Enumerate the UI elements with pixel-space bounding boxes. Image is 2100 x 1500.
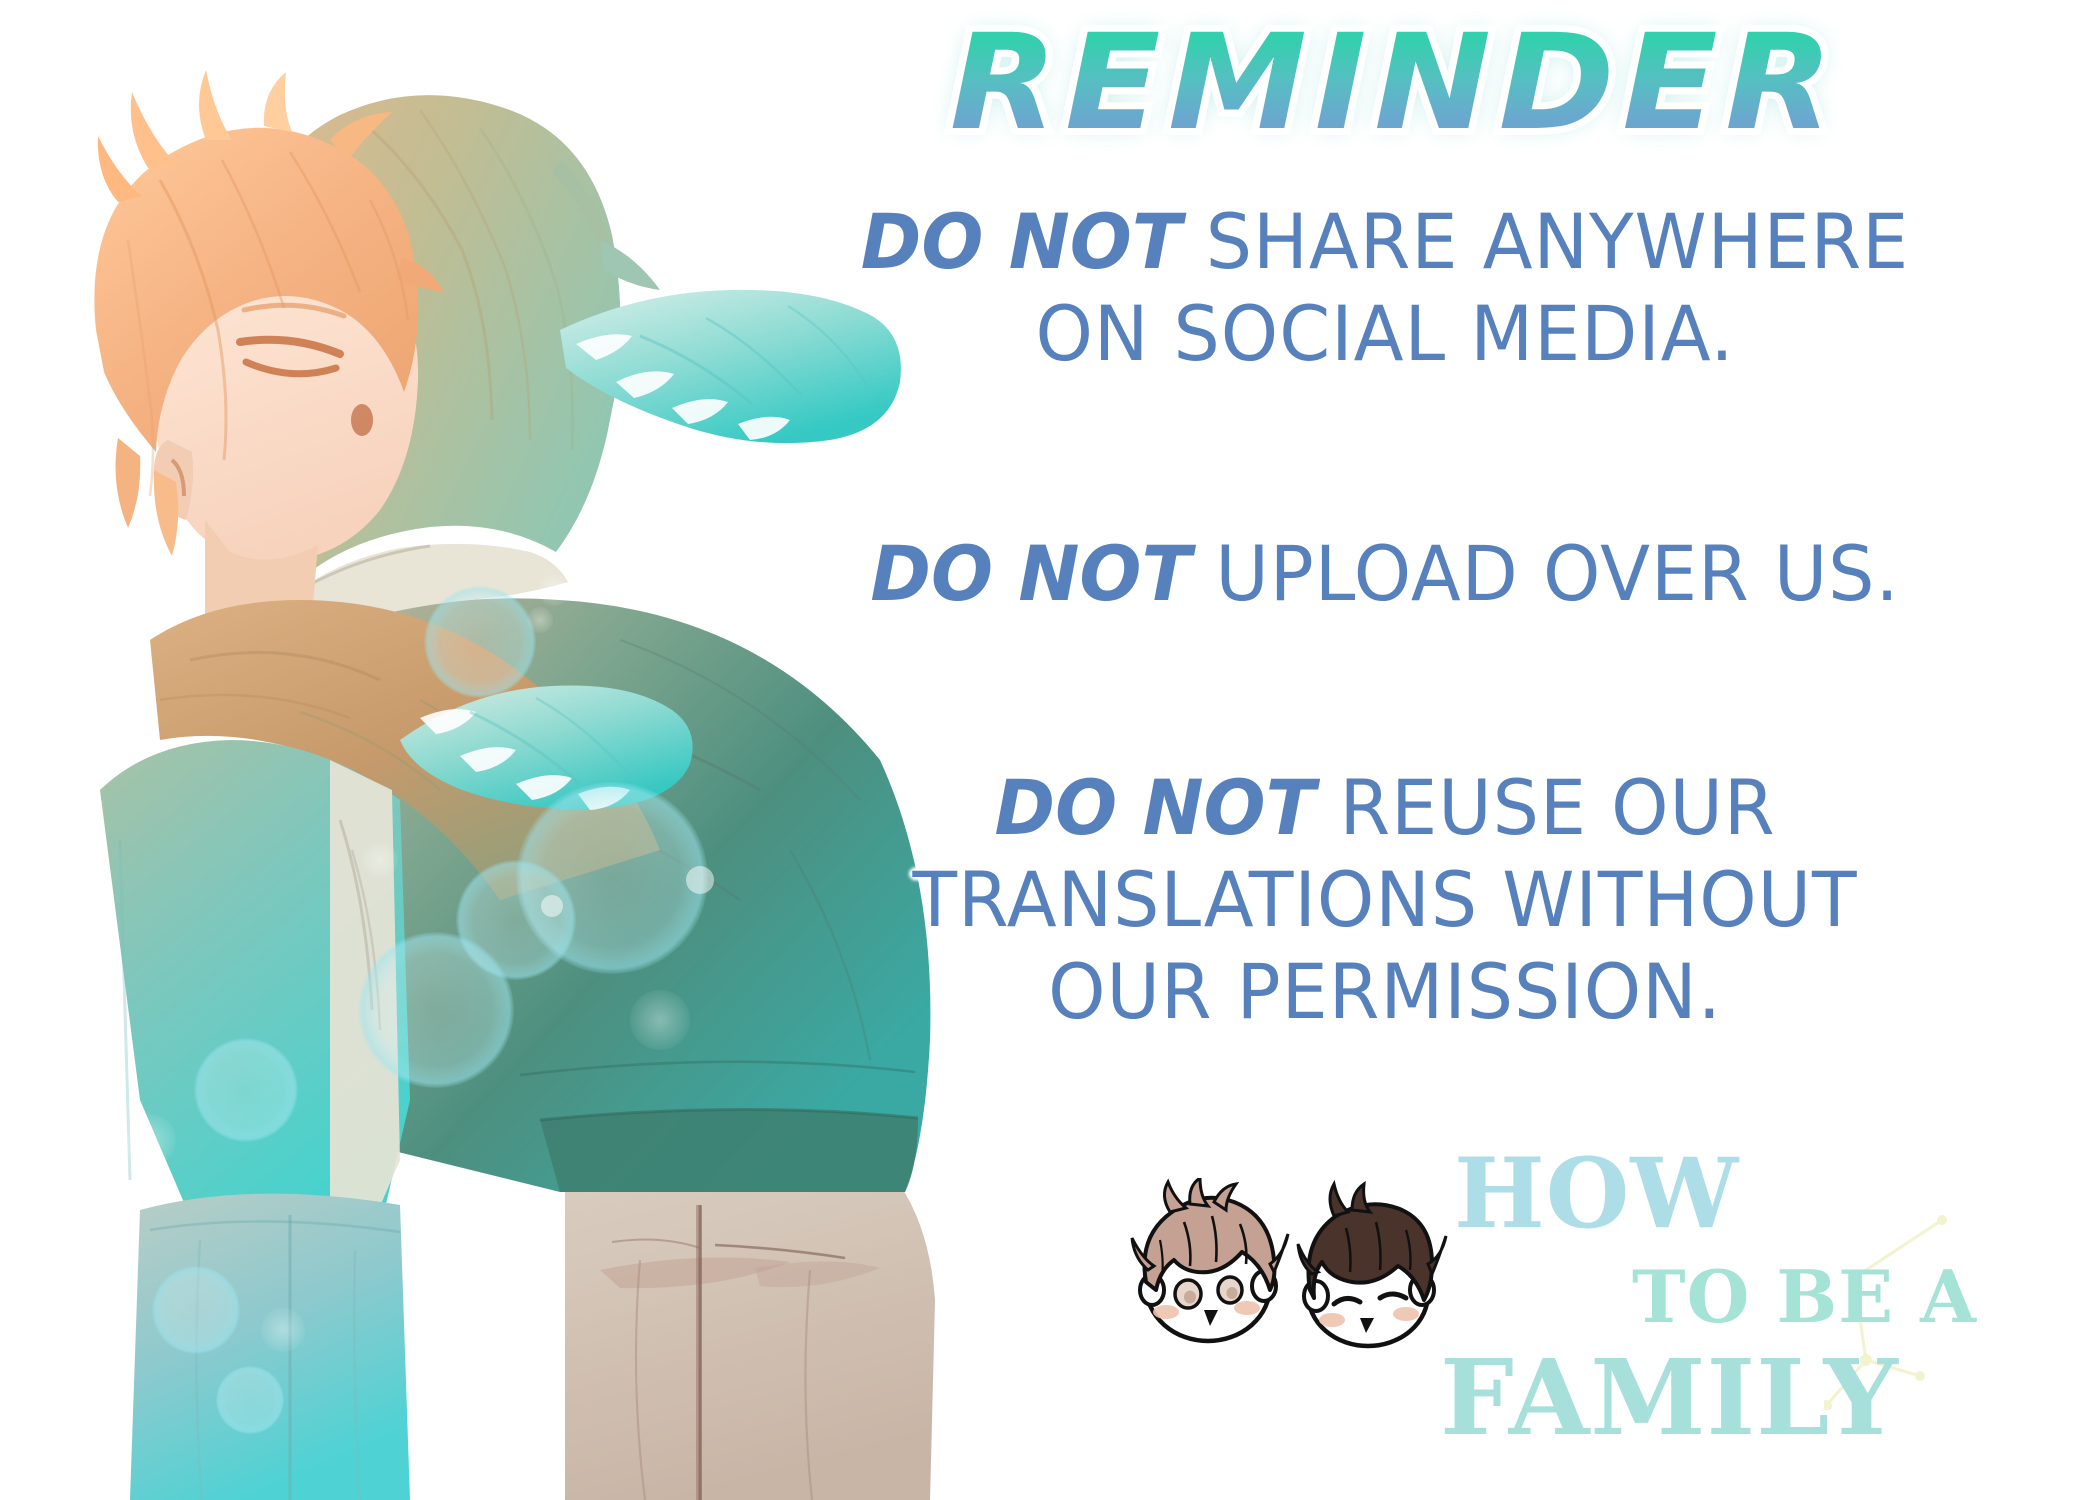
rule-text: SHARE ANYWHERE — [1182, 197, 1910, 286]
rule-text: ON SOCIAL MEDIA. — [1035, 289, 1734, 378]
logo-line-how: HOW — [1454, 1142, 1739, 1246]
rule-line: OUR PERMISSION. — [718, 946, 2052, 1038]
chibi-avatars — [1130, 1178, 1460, 1368]
bokeh-circle — [630, 990, 690, 1050]
bokeh-highlight — [541, 895, 563, 917]
bokeh-circle — [152, 1266, 240, 1354]
logo-line-family: FAMILY — [1440, 1342, 1899, 1454]
bokeh-circle — [358, 932, 514, 1088]
bokeh-circle — [527, 607, 553, 633]
rule-line: DO NOT UPLOAD OVER US. — [718, 528, 2052, 620]
rule-emphasis: DO NOT — [995, 763, 1316, 852]
bokeh-circle — [424, 586, 536, 698]
bokeh-circle — [194, 1038, 298, 1142]
logo-text: HOW TO BE A FAMILY — [1440, 1150, 2060, 1480]
rule-text: OUR PERMISSION. — [1048, 947, 1722, 1036]
rule-line: TRANSLATIONS WITHOUT — [718, 854, 2052, 946]
rules-list: DO NOT SHARE ANYWHERE ON SOCIAL MEDIA. D… — [690, 196, 2080, 1038]
rule-text: REUSE OUR — [1315, 763, 1775, 852]
rule-text: UPLOAD OVER US. — [1191, 529, 1899, 618]
bokeh-circle — [362, 842, 398, 878]
rule-block-share: DO NOT SHARE ANYWHERE ON SOCIAL MEDIA. — [690, 196, 2080, 380]
series-logo: HOW TO BE A FAMILY — [1130, 1150, 2060, 1480]
bokeh-circle — [216, 1366, 284, 1434]
rule-text: TRANSLATIONS WITHOUT — [913, 855, 1858, 944]
rule-block-upload: DO NOT UPLOAD OVER US. — [690, 528, 2080, 620]
rule-emphasis: DO NOT — [870, 529, 1191, 618]
page-title: REMINDER — [722, 8, 2068, 158]
rule-line: DO NOT REUSE OUR — [718, 762, 2052, 854]
rule-block-reuse: DO NOT REUSE OUR TRANSLATIONS WITHOUT OU… — [690, 762, 2080, 1038]
bokeh-circle — [261, 1308, 305, 1352]
logo-line-to-be-a: TO BE A — [1632, 1258, 1977, 1336]
chibi-head-dark-hair — [1298, 1184, 1446, 1346]
chibi-head-light-hair — [1132, 1178, 1288, 1341]
reminder-title-wrap: REMINDER REMINDER REMINDER — [760, 8, 2030, 158]
rule-line: DO NOT SHARE ANYWHERE — [718, 196, 2052, 288]
bokeh-circle — [124, 1114, 176, 1166]
rule-emphasis: DO NOT — [861, 197, 1182, 286]
reminder-graphic: REMINDER REMINDER REMINDER DO NOT SHARE … — [0, 0, 2100, 1500]
bokeh-circle — [538, 574, 570, 606]
rule-line: ON SOCIAL MEDIA. — [718, 288, 2052, 380]
